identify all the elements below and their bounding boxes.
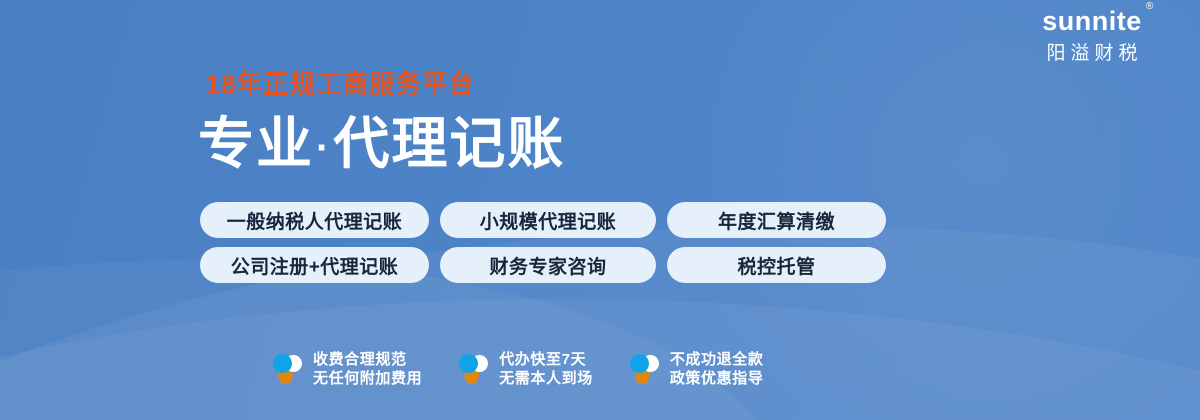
service-pill-group: 一般纳税人代理记账 小规模代理记账 年度汇算清缴 公司注册+代理记账 财务专家咨… bbox=[200, 202, 886, 292]
service-pill-finance-consulting[interactable]: 财务专家咨询 bbox=[440, 247, 656, 283]
feature-item-pricing: 收费合理规范 无任何附加费用 bbox=[272, 350, 422, 388]
hero-headline-right: 代理记账 bbox=[333, 112, 565, 175]
registered-trademark-icon: ® bbox=[1146, 2, 1154, 12]
feature-text-guarantee: 不成功退全款 政策优惠指导 bbox=[670, 350, 764, 388]
service-pill-company-registration[interactable]: 公司注册+代理记账 bbox=[200, 247, 429, 283]
brand-logo[interactable]: sunnite ® 阳溢财税 bbox=[1002, 8, 1182, 63]
feature-line-2: 政策优惠指导 bbox=[670, 369, 764, 388]
drop-moon-icon bbox=[458, 352, 488, 386]
feature-line-1: 收费合理规范 bbox=[313, 350, 422, 369]
hero-eyebrow: 18年正规工商服务平台 bbox=[206, 72, 565, 99]
service-pill-tax-control-hosting[interactable]: 税控托管 bbox=[667, 247, 886, 283]
service-pill-row-2: 公司注册+代理记账 财务专家咨询 税控托管 bbox=[200, 247, 886, 283]
promo-banner: sunnite ® 阳溢财税 18年正规工商服务平台 专业·代理记账 一般纳税人… bbox=[0, 0, 1200, 420]
feature-text-pricing: 收费合理规范 无任何附加费用 bbox=[313, 350, 422, 388]
drop-moon-icon bbox=[272, 352, 302, 386]
drop-moon-icon bbox=[629, 352, 659, 386]
service-pill-small-scale[interactable]: 小规模代理记账 bbox=[440, 202, 656, 238]
logo-wordmark-text: sunnite bbox=[1042, 6, 1142, 36]
hero-text-block: 18年正规工商服务平台 专业·代理记账 bbox=[198, 72, 565, 172]
logo-chinese-name: 阳溢财税 bbox=[1002, 44, 1182, 63]
hero-headline-separator: · bbox=[314, 126, 333, 170]
feature-line-1: 代办快至7天 bbox=[499, 350, 593, 369]
hero-headline: 专业·代理记账 bbox=[198, 116, 565, 172]
feature-line-1: 不成功退全款 bbox=[670, 350, 764, 369]
feature-line-2: 无任何附加费用 bbox=[313, 369, 422, 388]
feature-list: 收费合理规范 无任何附加费用 代办快至7天 无需本人到场 不成功退全款 bbox=[272, 350, 763, 388]
service-pill-annual-settlement[interactable]: 年度汇算清缴 bbox=[667, 202, 886, 238]
hero-headline-left: 专业 bbox=[198, 112, 314, 175]
logo-wordmark: sunnite ® bbox=[1042, 8, 1142, 35]
service-pill-row-1: 一般纳税人代理记账 小规模代理记账 年度汇算清缴 bbox=[200, 202, 886, 238]
feature-item-speed: 代办快至7天 无需本人到场 bbox=[458, 350, 593, 388]
feature-item-guarantee: 不成功退全款 政策优惠指导 bbox=[629, 350, 764, 388]
feature-line-2: 无需本人到场 bbox=[499, 369, 593, 388]
service-pill-general-taxpayer[interactable]: 一般纳税人代理记账 bbox=[200, 202, 429, 238]
feature-text-speed: 代办快至7天 无需本人到场 bbox=[499, 350, 593, 388]
